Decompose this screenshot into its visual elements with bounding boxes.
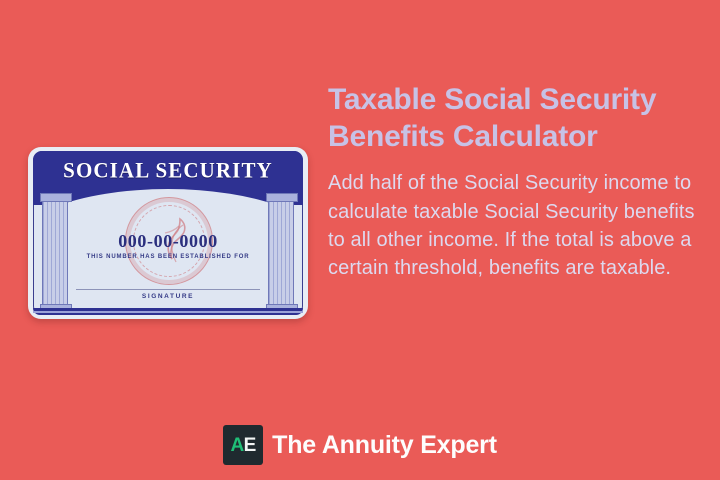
ss-card-pillar-right-icon <box>268 199 294 307</box>
poster-canvas: SOCIAL SECURITY 000-00-0000 THIS NUMBER … <box>0 0 720 480</box>
ss-card-footer-band <box>33 308 303 315</box>
ss-card-signature-rule <box>76 289 260 290</box>
social-security-card-illustration: SOCIAL SECURITY 000-00-0000 THIS NUMBER … <box>22 143 314 323</box>
ss-card-footer-stripe <box>33 311 303 313</box>
brand-monogram-icon: AE <box>223 425 263 465</box>
brand-logo: AE The Annuity Expert <box>0 425 720 465</box>
page-description: Add half of the Social Security income t… <box>328 169 716 283</box>
ss-card-pillar-left-icon <box>42 199 68 307</box>
ss-card-number: 000-00-0000 <box>28 231 308 252</box>
page-title: Taxable Social Security Benefits Calcula… <box>328 82 716 155</box>
brand-name-text: The Annuity Expert <box>272 431 497 460</box>
brand-monogram-a: A <box>230 436 243 455</box>
ss-card-established-text: THIS NUMBER HAS BEEN ESTABLISHED FOR <box>28 254 308 260</box>
ss-card-signature-label: SIGNATURE <box>28 293 308 300</box>
copy-block: Taxable Social Security Benefits Calcula… <box>328 82 716 283</box>
ss-card-body: SOCIAL SECURITY 000-00-0000 THIS NUMBER … <box>28 147 308 319</box>
brand-monogram-e: E <box>244 436 256 455</box>
ss-card-title: SOCIAL SECURITY <box>33 157 303 183</box>
